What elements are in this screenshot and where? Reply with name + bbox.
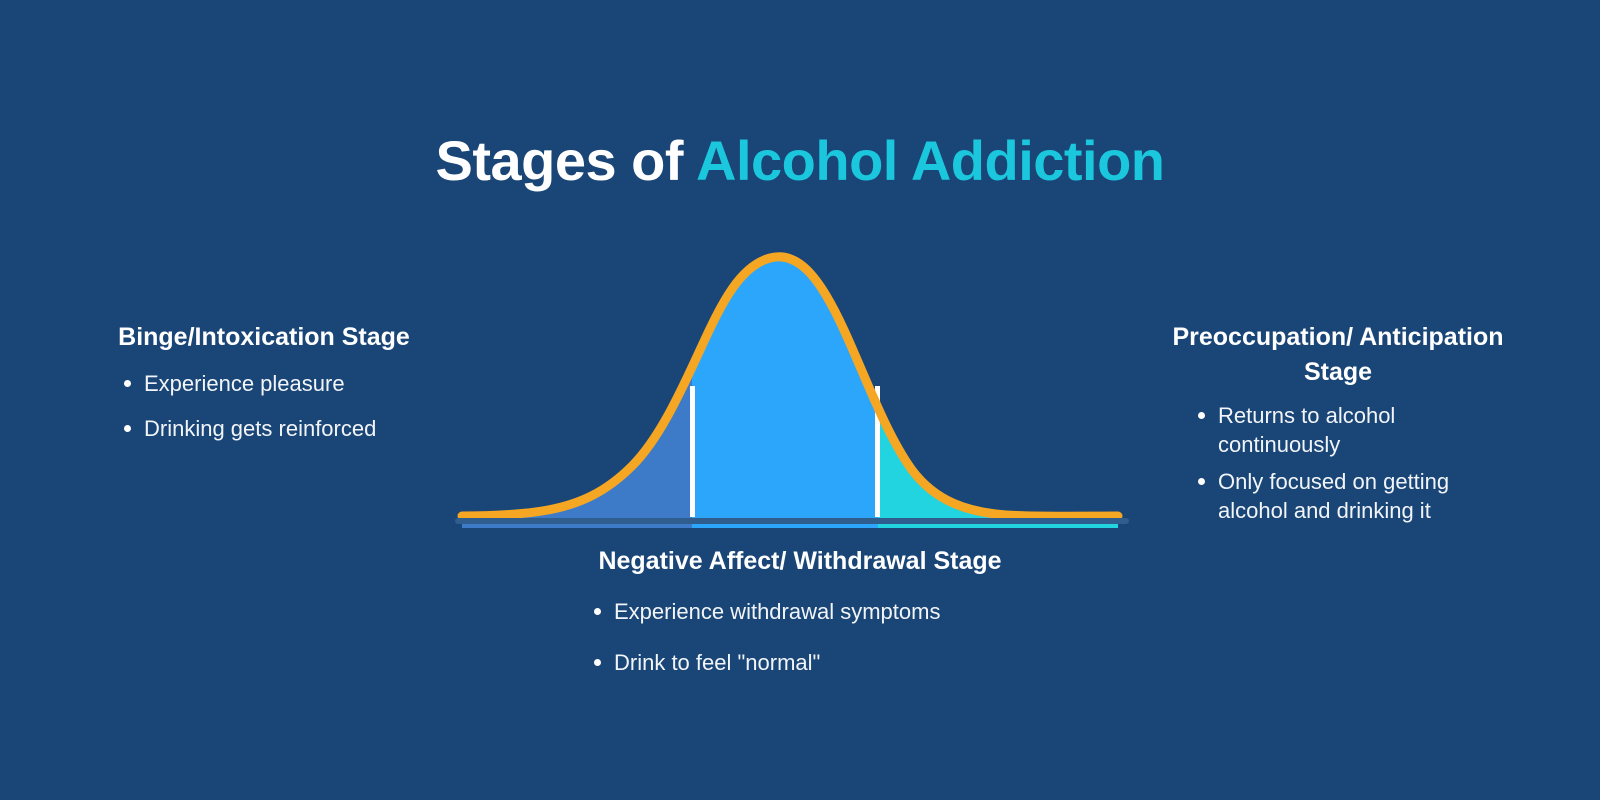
stage-block-negative-affect-withdrawal: Negative Affect/ Withdrawal Stage Experi…	[520, 544, 1080, 699]
list-item: Experience pleasure	[118, 369, 450, 398]
stage-block-binge-intoxication: Binge/Intoxication Stage Experience plea…	[78, 320, 450, 459]
list-item: Only focused on getting alcohol and drin…	[1192, 467, 1518, 525]
stage-bullets-preoccupation-anticipation: Returns to alcohol continuously Only foc…	[1192, 401, 1518, 525]
region-preoccupation-anticipation	[878, 238, 1140, 538]
bell-curve-chart	[440, 238, 1140, 538]
stage-bullets-negative-affect-withdrawal: Experience withdrawal symptoms Drink to …	[588, 597, 1080, 677]
page-title: Stages of Alcohol Addiction	[0, 132, 1600, 191]
list-item: Returns to alcohol continuously	[1192, 401, 1518, 459]
bell-curve-svg	[440, 238, 1140, 538]
stage-bullets-binge-intoxication: Experience pleasure Drinking gets reinfo…	[118, 369, 450, 443]
list-item: Experience withdrawal symptoms	[588, 597, 1080, 626]
region-negative-affect-withdrawal	[692, 238, 878, 538]
stage-heading-preoccupation-anticipation: Preoccupation/ Anticipation Stage	[1158, 320, 1518, 389]
curve-region-fills	[440, 238, 1140, 538]
stage-block-preoccupation-anticipation: Preoccupation/ Anticipation Stage Return…	[1158, 320, 1518, 533]
list-item: Drinking gets reinforced	[118, 414, 450, 443]
infographic-root: Stages of Alcohol Addiction	[0, 0, 1600, 800]
stage-heading-negative-affect-withdrawal: Negative Affect/ Withdrawal Stage	[520, 544, 1080, 579]
stage-heading-binge-intoxication: Binge/Intoxication Stage	[78, 320, 450, 355]
title-accent-text: Alcohol Addiction	[696, 129, 1164, 192]
list-item: Drink to feel "normal"	[588, 648, 1080, 677]
title-primary-text: Stages of	[435, 129, 683, 192]
region-binge-intoxication	[440, 238, 692, 538]
